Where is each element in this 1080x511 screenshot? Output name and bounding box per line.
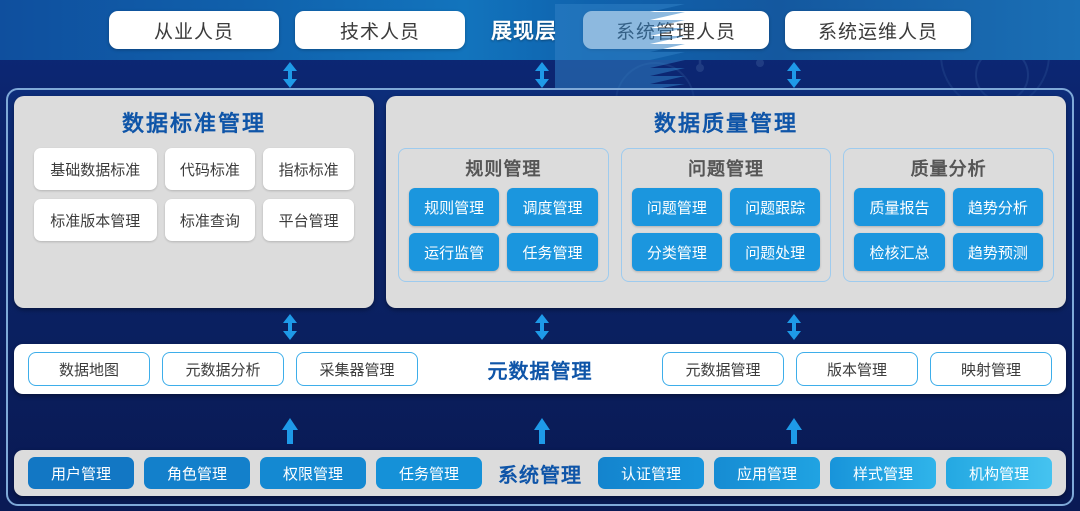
chip-label: 样式管理 (853, 463, 913, 484)
std-chip-basic-data-standard[interactable]: 基础数据标准 (34, 148, 157, 190)
chip-label: 趋势分析 (968, 197, 1028, 218)
quality-chip-trend-forecast[interactable]: 趋势预测 (953, 233, 1043, 271)
chip-label: 标准版本管理 (50, 210, 140, 231)
connector-metadata-to-system (0, 418, 1080, 444)
presentation-layer-bar: 从业人员 技术人员 展现层 系统管理人员 系统运维人员 (0, 0, 1080, 60)
quality-chip-issue-handling[interactable]: 问题处理 (730, 233, 820, 271)
panel-title: 数据质量管理 (398, 106, 1054, 138)
chip-label: 标准查询 (180, 210, 240, 231)
chip-label: 趋势预测 (968, 242, 1028, 263)
double-arrow-vertical-icon (533, 314, 551, 340)
chip-label: 运行监管 (424, 242, 484, 263)
double-arrow-vertical-icon (281, 314, 299, 340)
system-left-group: 用户管理 角色管理 权限管理 任务管理 (28, 457, 482, 489)
arrow-up-icon (533, 418, 551, 444)
system-layer-bar: 用户管理 角色管理 权限管理 任务管理 系统管理 认证管理 应用管理 样式管理 … (14, 450, 1066, 496)
chip-label: 映射管理 (961, 359, 1021, 380)
panel-title: 数据标准管理 (26, 106, 362, 138)
chip-label: 版本管理 (827, 359, 887, 380)
quality-chip-task-management[interactable]: 任务管理 (507, 233, 597, 271)
chip-label: 机构管理 (969, 463, 1029, 484)
std-chip-standard-version[interactable]: 标准版本管理 (34, 199, 157, 241)
meta-chip-mapping-management[interactable]: 映射管理 (930, 352, 1052, 386)
subpanel-title: 规则管理 (409, 155, 598, 181)
subpanel-title: 质量分析 (854, 155, 1043, 181)
chip-label: 元数据管理 (685, 359, 760, 380)
chip-label: 任务管理 (522, 242, 582, 263)
chip-label: 平台管理 (279, 210, 339, 231)
chip-label: 质量报告 (870, 197, 930, 218)
subpanel-quality-analysis: 质量分析 质量报告 趋势分析 检核汇总 趋势预测 (843, 148, 1054, 282)
chip-label: 代码标准 (180, 159, 240, 180)
chip-label: 任务管理 (399, 463, 459, 484)
quality-chip-classification[interactable]: 分类管理 (632, 233, 722, 271)
std-chip-platform-management[interactable]: 平台管理 (263, 199, 354, 241)
panel-data-standard: 数据标准管理 基础数据标准 代码标准 指标标准 标准版本管理 标准查询 平台管理 (14, 96, 374, 308)
metadata-right-group: 元数据管理 版本管理 映射管理 (662, 352, 1052, 386)
chip-label: 问题处理 (745, 242, 805, 263)
quality-chip-schedule-management[interactable]: 调度管理 (507, 188, 597, 226)
quality-chip-quality-report[interactable]: 质量报告 (854, 188, 944, 226)
meta-chip-data-map[interactable]: 数据地图 (28, 352, 150, 386)
chip-label: 检核汇总 (870, 242, 930, 263)
sys-chip-application-management[interactable]: 应用管理 (714, 457, 820, 489)
chip-label: 数据地图 (59, 359, 119, 380)
quality-chip-trend-analysis[interactable]: 趋势分析 (953, 188, 1043, 226)
sys-chip-org-management[interactable]: 机构管理 (946, 457, 1052, 489)
chip-label: 用户管理 (51, 463, 111, 484)
quality-chip-issue-management[interactable]: 问题管理 (632, 188, 722, 226)
core-layer: 数据标准管理 基础数据标准 代码标准 指标标准 标准版本管理 标准查询 平台管理… (14, 96, 1066, 308)
system-right-group: 认证管理 应用管理 样式管理 机构管理 (598, 457, 1052, 489)
quality-chip-rule-management[interactable]: 规则管理 (409, 188, 499, 226)
role-label: 系统运维人员 (818, 17, 938, 44)
double-arrow-vertical-icon (533, 62, 551, 88)
chip-label: 应用管理 (737, 463, 797, 484)
metadata-left-group: 数据地图 元数据分析 采集器管理 (28, 352, 418, 386)
chip-label: 基础数据标准 (50, 159, 140, 180)
presentation-layer-title: 展现层 (481, 15, 567, 45)
role-chip-system-admin[interactable]: 系统管理人员 (583, 11, 769, 49)
meta-chip-metadata-analysis[interactable]: 元数据分析 (162, 352, 284, 386)
sys-chip-task-management[interactable]: 任务管理 (376, 457, 482, 489)
subpanel-grid: 规则管理 调度管理 运行监管 任务管理 (409, 188, 598, 271)
chip-label: 调度管理 (522, 197, 582, 218)
sys-chip-auth-management[interactable]: 认证管理 (598, 457, 704, 489)
role-chip-system-ops[interactable]: 系统运维人员 (785, 11, 971, 49)
system-layer-title: 系统管理 (486, 459, 594, 488)
subpanel-grid: 质量报告 趋势分析 检核汇总 趋势预测 (854, 188, 1043, 271)
chip-label: 分类管理 (647, 242, 707, 263)
chip-label: 权限管理 (283, 463, 343, 484)
subpanel-issue-management: 问题管理 问题管理 问题跟踪 分类管理 问题处理 (621, 148, 832, 282)
double-arrow-vertical-icon (281, 62, 299, 88)
metadata-layer-title: 元数据管理 (474, 355, 607, 384)
double-arrow-vertical-icon (785, 62, 803, 88)
role-label: 从业人员 (154, 17, 234, 44)
metadata-layer-bar: 数据地图 元数据分析 采集器管理 元数据管理 元数据管理 版本管理 映射管理 (14, 344, 1066, 394)
arrow-up-icon (281, 418, 299, 444)
role-chip-technician[interactable]: 技术人员 (295, 11, 465, 49)
chip-label: 指标标准 (279, 159, 339, 180)
chip-label: 角色管理 (167, 463, 227, 484)
subpanel-title: 问题管理 (632, 155, 821, 181)
chip-label: 采集器管理 (319, 359, 394, 380)
architecture-diagram: 从业人员 技术人员 展现层 系统管理人员 系统运维人员 (0, 0, 1080, 511)
chip-label: 问题跟踪 (745, 197, 805, 218)
sys-chip-user-management[interactable]: 用户管理 (28, 457, 134, 489)
double-arrow-vertical-icon (785, 314, 803, 340)
meta-chip-metadata-management[interactable]: 元数据管理 (662, 352, 784, 386)
chip-label: 规则管理 (424, 197, 484, 218)
sys-chip-permission-management[interactable]: 权限管理 (260, 457, 366, 489)
data-standard-grid: 基础数据标准 代码标准 指标标准 标准版本管理 标准查询 平台管理 (26, 148, 362, 241)
subpanel-grid: 问题管理 问题跟踪 分类管理 问题处理 (632, 188, 821, 271)
role-label: 技术人员 (340, 17, 420, 44)
arrow-up-icon (785, 418, 803, 444)
std-chip-standard-query[interactable]: 标准查询 (165, 199, 256, 241)
quality-subpanel-row: 规则管理 规则管理 调度管理 运行监管 任务管理 问题管理 问题管理 问题跟踪 … (398, 148, 1054, 282)
quality-chip-check-summary[interactable]: 检核汇总 (854, 233, 944, 271)
meta-chip-version-management[interactable]: 版本管理 (796, 352, 918, 386)
chip-label: 元数据分析 (185, 359, 260, 380)
std-chip-indicator-standard[interactable]: 指标标准 (263, 148, 354, 190)
panel-data-quality: 数据质量管理 规则管理 规则管理 调度管理 运行监管 任务管理 问题管理 问题管… (386, 96, 1066, 308)
quality-chip-issue-tracking[interactable]: 问题跟踪 (730, 188, 820, 226)
connector-presentation-to-core (0, 62, 1080, 88)
role-label: 系统管理人员 (616, 17, 736, 44)
quality-chip-run-monitor[interactable]: 运行监管 (409, 233, 499, 271)
subpanel-rule-management: 规则管理 规则管理 调度管理 运行监管 任务管理 (398, 148, 609, 282)
sys-chip-style-management[interactable]: 样式管理 (830, 457, 936, 489)
role-chip-practitioner[interactable]: 从业人员 (109, 11, 279, 49)
meta-chip-collector-management[interactable]: 采集器管理 (296, 352, 418, 386)
connector-core-to-metadata (0, 314, 1080, 340)
std-chip-code-standard[interactable]: 代码标准 (165, 148, 256, 190)
chip-label: 问题管理 (647, 197, 707, 218)
chip-label: 认证管理 (621, 463, 681, 484)
sys-chip-role-management[interactable]: 角色管理 (144, 457, 250, 489)
